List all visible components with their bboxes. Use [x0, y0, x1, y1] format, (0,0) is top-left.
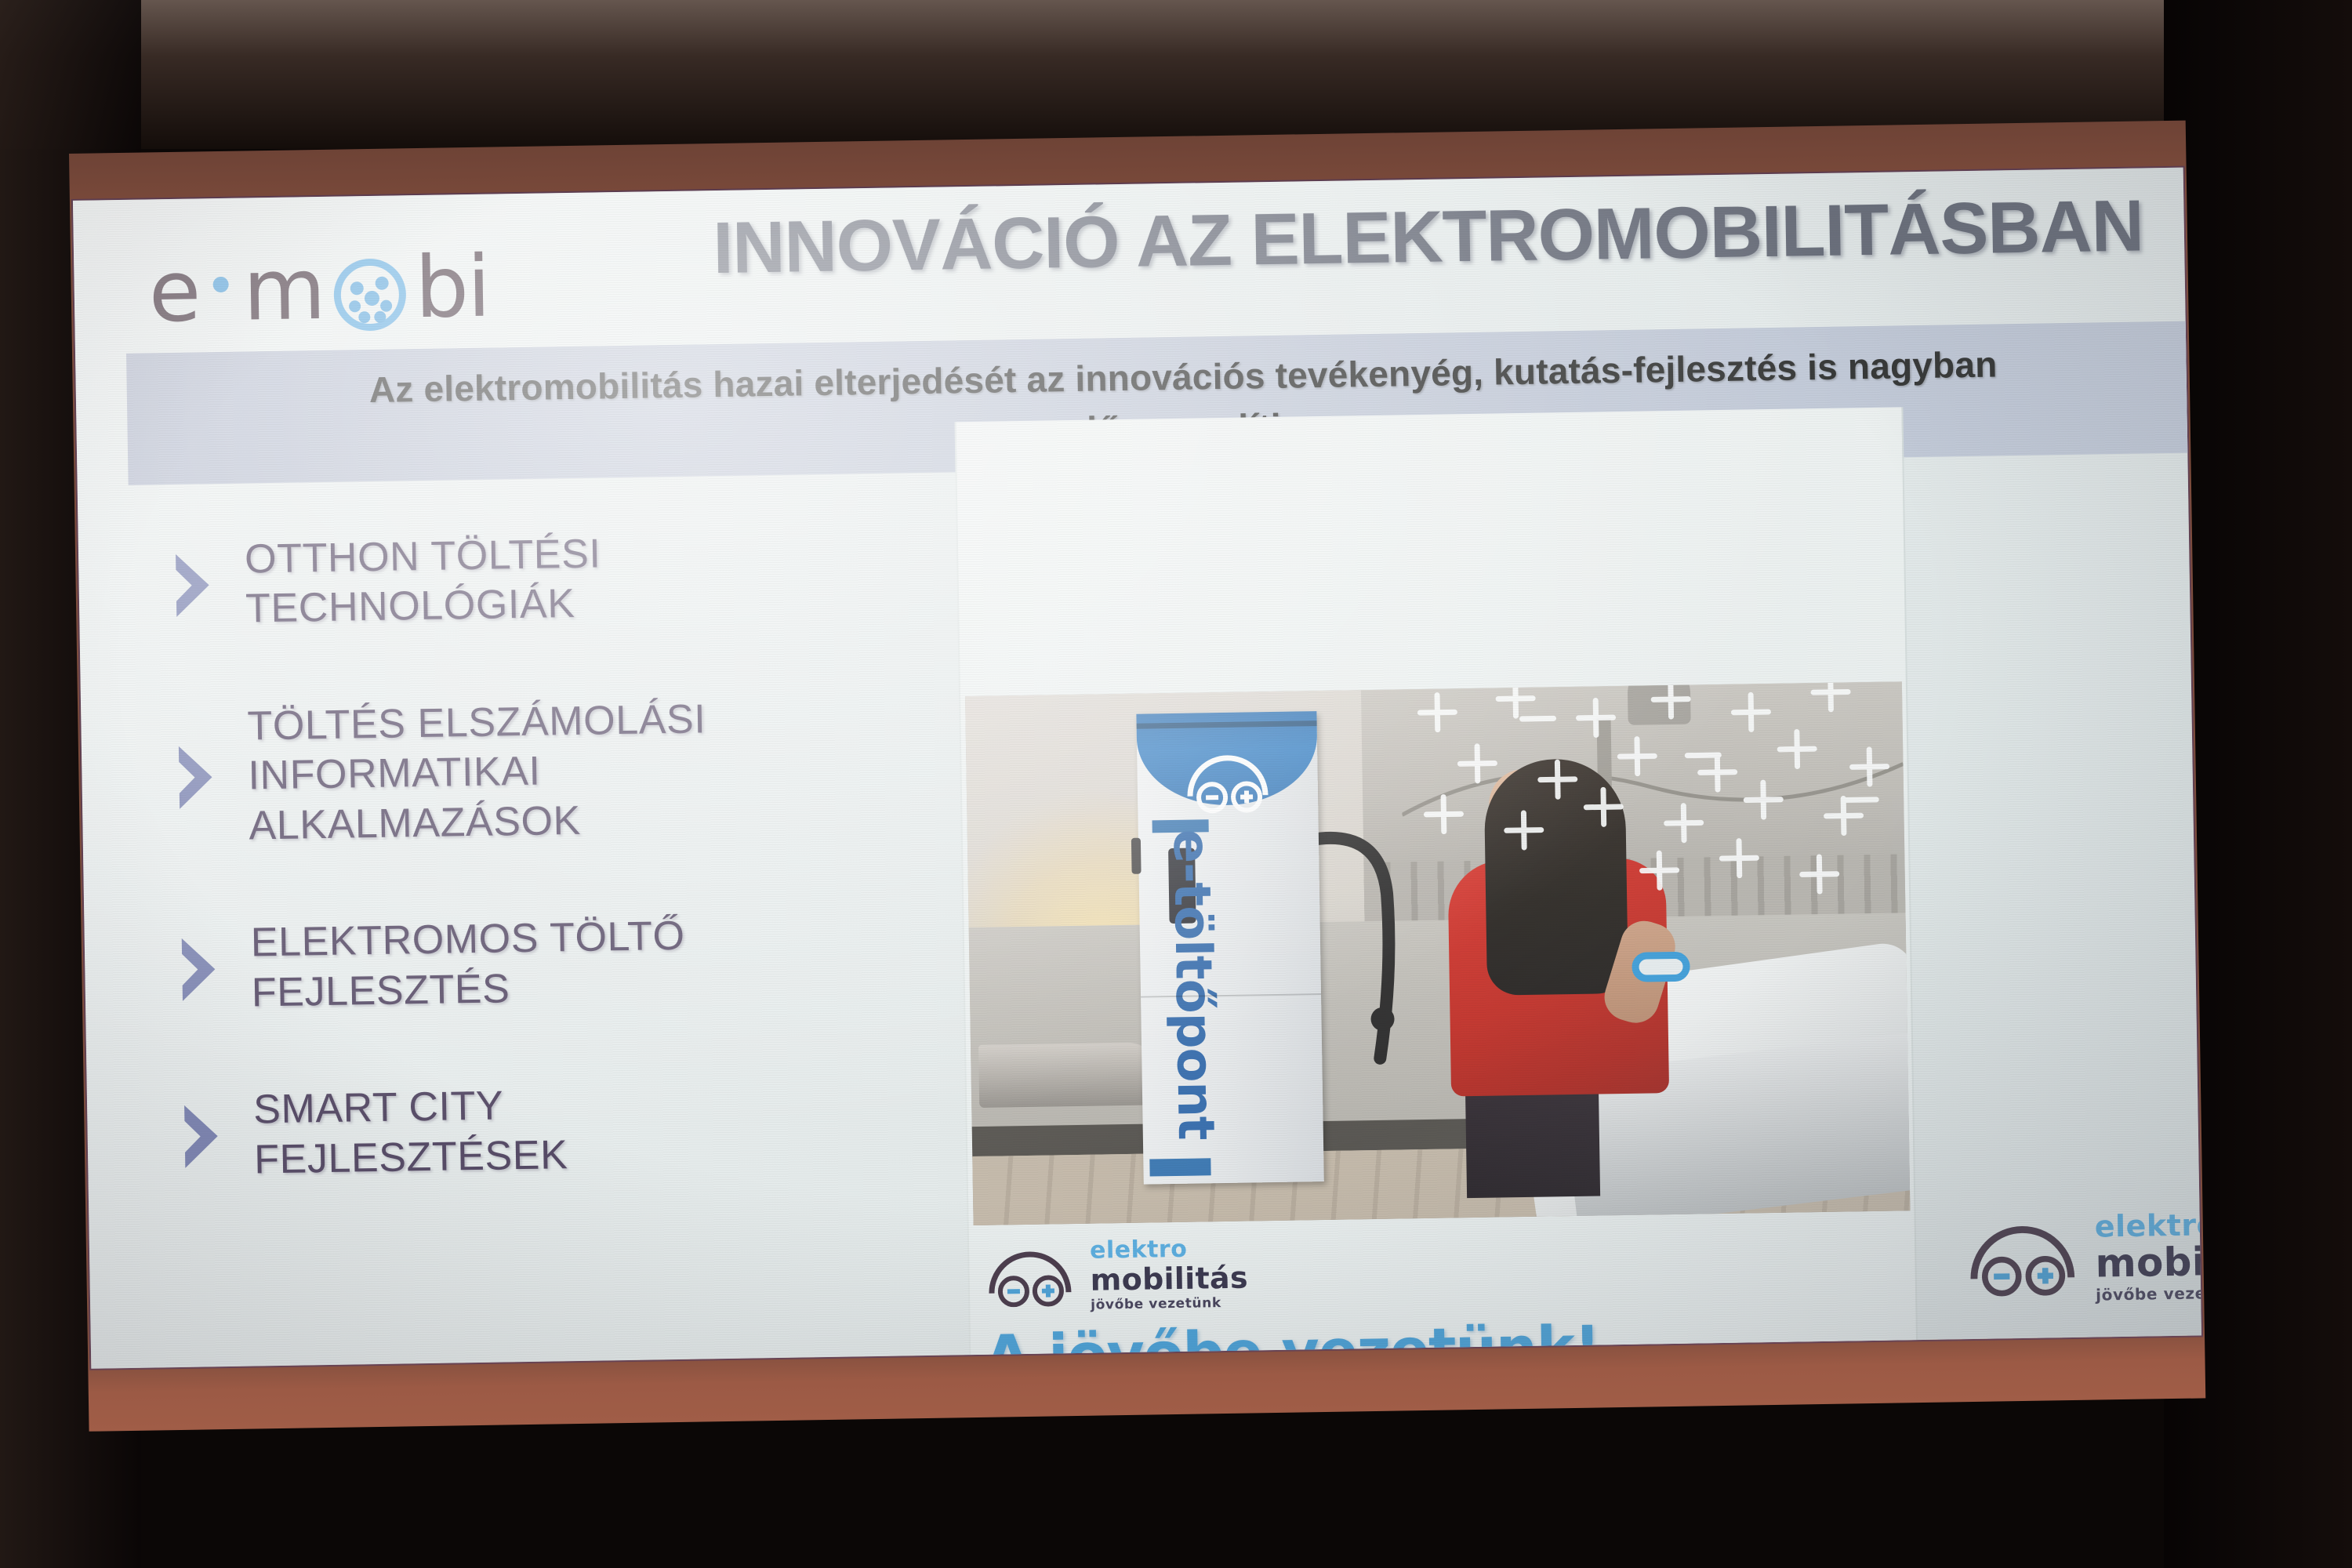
- page-title: INNOVÁCIÓ AZ ELEKTROMOBILITÁSBAN: [590, 183, 2143, 292]
- charger-socket: [1131, 838, 1142, 874]
- emobi-logo-m: m: [242, 248, 325, 334]
- photo-boat: [978, 1042, 1160, 1108]
- list-item: OTTHON TÖLTÉSI TECHNOLÓGIÁK: [165, 524, 935, 636]
- chevron-right-icon: [168, 741, 227, 814]
- emobi-logo-e: e: [148, 249, 200, 335]
- photo-charging-station: e-töltőpont: [1136, 711, 1323, 1185]
- chevron-right-icon: [171, 933, 230, 1006]
- list-item: ELEKTROMOS TÖLTŐ FEJLESZTÉS: [170, 908, 940, 1019]
- list-item: TÖLTÉS ELSZÁMOLÁSI INFORMATIKAI ALKALMAZ…: [167, 691, 938, 853]
- elektromobilitas-smiley-icon: [1963, 1220, 2082, 1297]
- list-item-label: OTTHON TÖLTÉSI TECHNOLÓGIÁK: [245, 529, 602, 634]
- brand-line-elektro: elektro: [2095, 1208, 2201, 1241]
- bullet-list: OTTHON TÖLTÉSI TECHNOLÓGIÁK TÖLTÉS ELSZÁ…: [165, 524, 944, 1254]
- charging-photo: e-töltőpont: [965, 681, 1910, 1225]
- elektromobilitas-smiley-icon: [983, 1247, 1076, 1308]
- photo-plus-pattern-overlay: [1404, 681, 1910, 956]
- chevron-right-icon: [173, 1099, 232, 1172]
- list-item-label: ELEKTROMOS TÖLTŐ FEJLESZTÉS: [250, 912, 686, 1018]
- emobi-connector-icon: [333, 258, 406, 331]
- photo-charging-plug: [1632, 952, 1690, 982]
- elektromobilitas-wordmark: elektro mobilitás jövőbe vezetünk: [2095, 1208, 2201, 1302]
- emobi-logo-bi: bi: [415, 245, 490, 331]
- charger-brand-text: e-töltőpont: [1162, 829, 1225, 1167]
- list-item: SMART CITY FEJLESZTÉSEK: [173, 1075, 943, 1186]
- brand-line-elektro: elektro: [1090, 1237, 1248, 1263]
- elektromobilitas-logo-corner: elektro mobilitás jövőbe vezetünk: [1963, 1208, 2201, 1305]
- brand-line-slogan: jövőbe vezetünk: [1091, 1297, 1248, 1312]
- presentation-slide: e m bi INNOVÁCIÓ AZ ELEKTROMOBILITÁSBAN …: [73, 168, 2201, 1369]
- emobi-logo: e m bi: [148, 245, 490, 336]
- chevron-right-icon: [165, 549, 223, 622]
- list-item-label: TÖLTÉS ELSZÁMOLÁSI INFORMATIKAI ALKALMAZ…: [247, 695, 708, 851]
- elektromobilitas-logo: elektro mobilitás jövőbe vezetünk: [983, 1237, 1249, 1314]
- emobi-logo-dot: [213, 277, 229, 292]
- brand-line-slogan: jövőbe vezetünk: [2096, 1283, 2201, 1302]
- elektromobilitas-wordmark: elektro mobilitás jövőbe vezetünk: [1090, 1237, 1249, 1312]
- projection-screen: e m bi INNOVÁCIÓ AZ ELEKTROMOBILITÁSBAN …: [69, 121, 2205, 1432]
- list-item-label: SMART CITY FEJLESZTÉSEK: [253, 1080, 568, 1185]
- charger-footer-label: [1149, 1158, 1210, 1176]
- brand-line-mobilitas: mobilitás: [2095, 1240, 2201, 1283]
- brand-line-mobilitas: mobilitás: [1090, 1263, 1248, 1295]
- charger-smiley-icon: [1175, 746, 1279, 815]
